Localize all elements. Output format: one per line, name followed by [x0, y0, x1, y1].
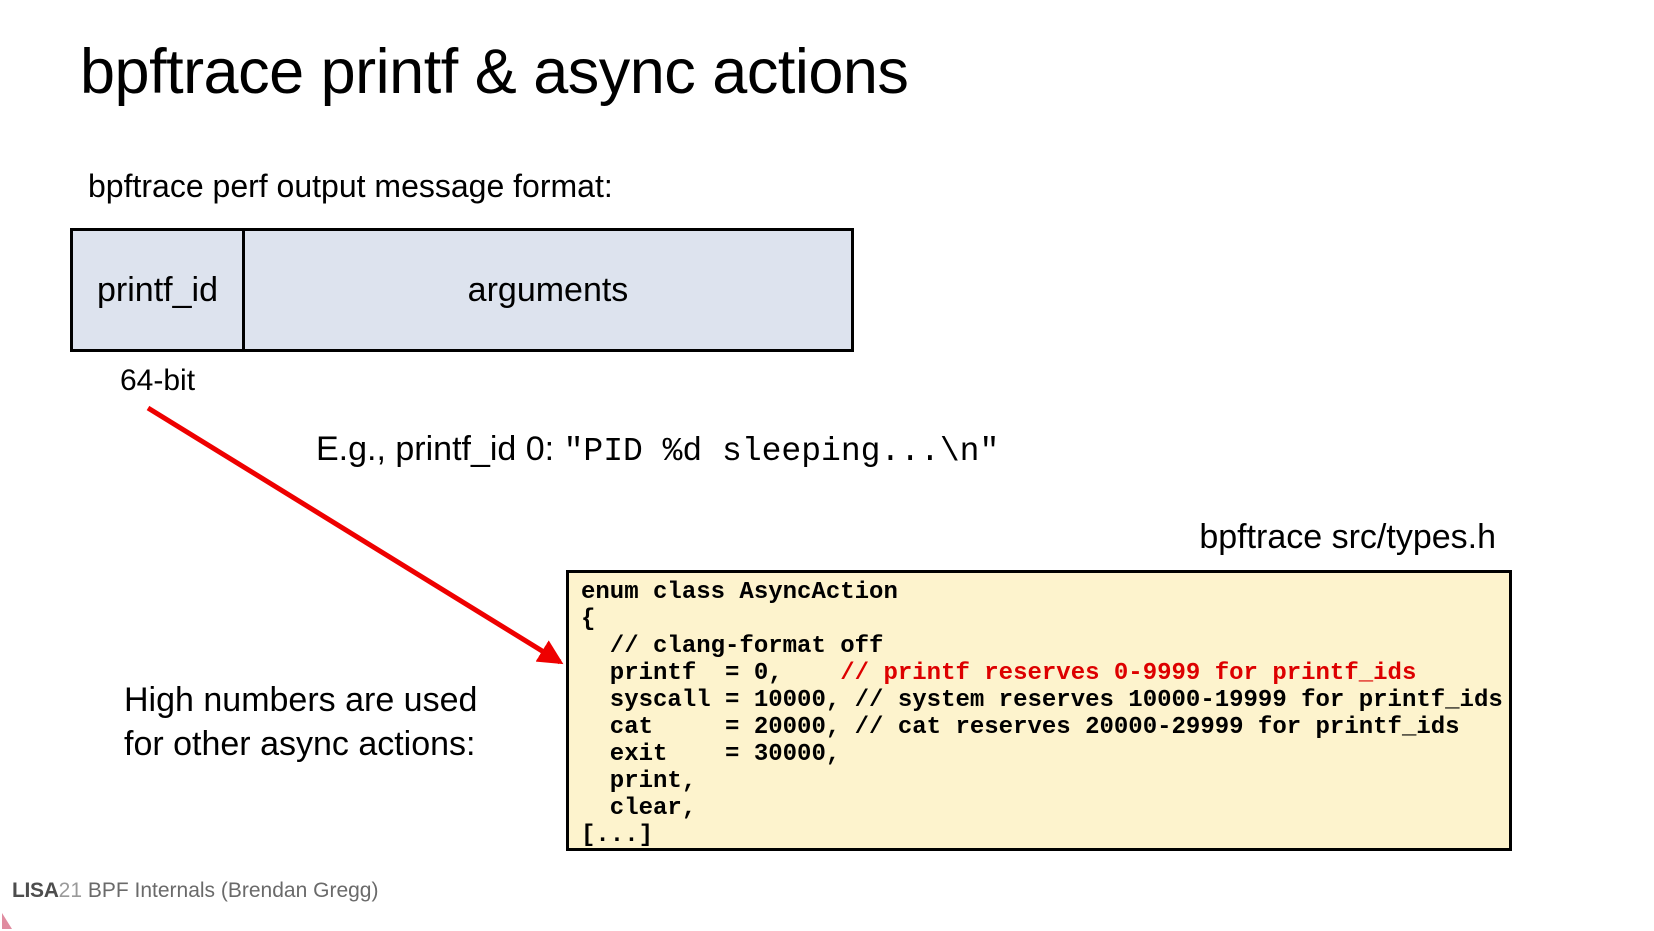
- code-line-comment: // cat reserves 20000-29999 for printf_i…: [855, 714, 1460, 741]
- code-line: syscall = 10000, // system reserves 1000…: [581, 687, 1509, 714]
- footer-brand: LISA: [12, 879, 59, 902]
- corner-mark-icon: [0, 909, 16, 931]
- code-line: exit = 30000,: [581, 741, 1509, 768]
- code-line: [...]: [581, 822, 1509, 849]
- code-line-text: // clang-format off: [581, 633, 883, 660]
- example-prefix: E.g., printf_id 0:: [316, 430, 564, 468]
- async-note-line-1: High numbers are used: [124, 678, 564, 722]
- code-line-text: clear,: [581, 795, 696, 822]
- footer-brand-year: 21: [59, 879, 82, 902]
- code-line-text: print,: [581, 768, 696, 795]
- message-format-diagram: printf_id arguments: [70, 228, 854, 352]
- code-line-text: [...]: [581, 822, 653, 849]
- code-line: clear,: [581, 795, 1509, 822]
- code-block-async-action: enum class AsyncAction{ // clang-format …: [566, 570, 1512, 851]
- example-printf-line: E.g., printf_id 0: "PID %d sleeping...\n…: [316, 430, 999, 470]
- code-line-text: syscall = 10000,: [581, 687, 855, 714]
- code-line-text: enum class AsyncAction: [581, 579, 898, 606]
- code-line-text: exit = 30000,: [581, 741, 840, 768]
- diagram-cell-printf-id: printf_id: [73, 231, 245, 349]
- code-line: enum class AsyncAction: [581, 579, 1509, 606]
- code-line: {: [581, 606, 1509, 633]
- code-line-text: cat = 20000,: [581, 714, 855, 741]
- async-note-line-2: for other async actions:: [124, 722, 564, 766]
- bit-width-label: 64-bit: [120, 364, 195, 398]
- code-line: // clang-format off: [581, 633, 1509, 660]
- code-line-comment: // system reserves 10000-19999 for print…: [855, 687, 1503, 714]
- code-line: printf = 0, // printf reserves 0-9999 fo…: [581, 660, 1509, 687]
- code-line: cat = 20000, // cat reserves 20000-29999…: [581, 714, 1509, 741]
- diagram-cell-arguments: arguments: [245, 231, 851, 349]
- code-line-comment: // printf reserves 0-9999 for printf_ids: [840, 660, 1416, 687]
- async-actions-note: High numbers are used for other async ac…: [124, 678, 564, 766]
- footer: LISA21 BPF Internals (Brendan Gregg): [12, 879, 378, 903]
- code-line-text: {: [581, 606, 595, 633]
- footer-text: BPF Internals (Brendan Gregg): [82, 879, 378, 902]
- page-title: bpftrace printf & async actions: [80, 38, 908, 107]
- example-format-string: "PID %d sleeping...\n": [564, 433, 1000, 470]
- code-line-text: printf = 0,: [581, 660, 840, 687]
- source-file-caption: bpftrace src/types.h: [1199, 518, 1496, 557]
- code-line: print,: [581, 768, 1509, 795]
- message-format-caption: bpftrace perf output message format:: [88, 168, 613, 205]
